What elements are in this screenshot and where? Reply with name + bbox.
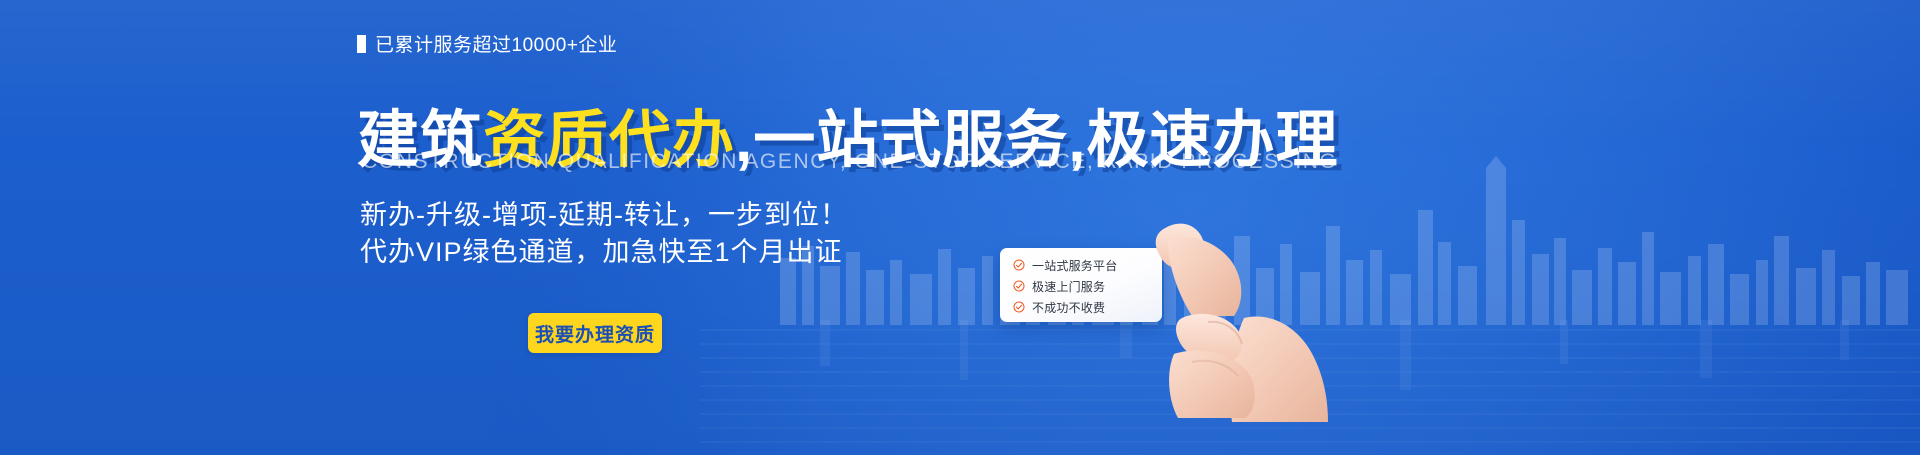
background-sheen: [0, 0, 1920, 455]
check-circle-icon: [1013, 280, 1025, 292]
feature-label: 一站式服务平台: [1032, 257, 1117, 274]
body-line-2: 代办VIP绿色通道，加急快至1个月出证: [360, 230, 843, 269]
eyebrow: 已累计服务超过10000+企业: [357, 30, 617, 57]
apply-qualification-button[interactable]: 我要办理资质: [528, 313, 662, 353]
hand-holding-card-icon: [1148, 222, 1328, 422]
feature-card-artwork: 一站式服务平台 极速上门服务 不成功不收费: [1000, 248, 1320, 368]
city-skyline-icon: [760, 150, 1920, 325]
feature-label: 极速上门服务: [1032, 278, 1105, 295]
check-circle-icon: [1013, 259, 1025, 271]
list-item: 极速上门服务: [1013, 276, 1162, 296]
list-item: 不成功不收费: [1013, 297, 1162, 317]
check-circle-icon: [1013, 301, 1025, 313]
feature-card: 一站式服务平台 极速上门服务 不成功不收费: [1000, 248, 1162, 322]
hero-banner: 已累计服务超过10000+企业 建筑资质代办,一站式服务,极速办理 CONSTR…: [0, 0, 1920, 455]
feature-label: 不成功不收费: [1032, 299, 1105, 316]
list-item: 一站式服务平台: [1013, 255, 1162, 275]
subtitle-english: CONSTRUCTION QUALIFICATION AGENCY, ONE-S…: [362, 150, 1337, 174]
eyebrow-label: 已累计服务超过10000+企业: [375, 30, 617, 57]
square-bullet-icon: [357, 35, 366, 53]
body-line-1: 新办-升级-增项-延期-转让，一步到位！: [360, 193, 848, 232]
